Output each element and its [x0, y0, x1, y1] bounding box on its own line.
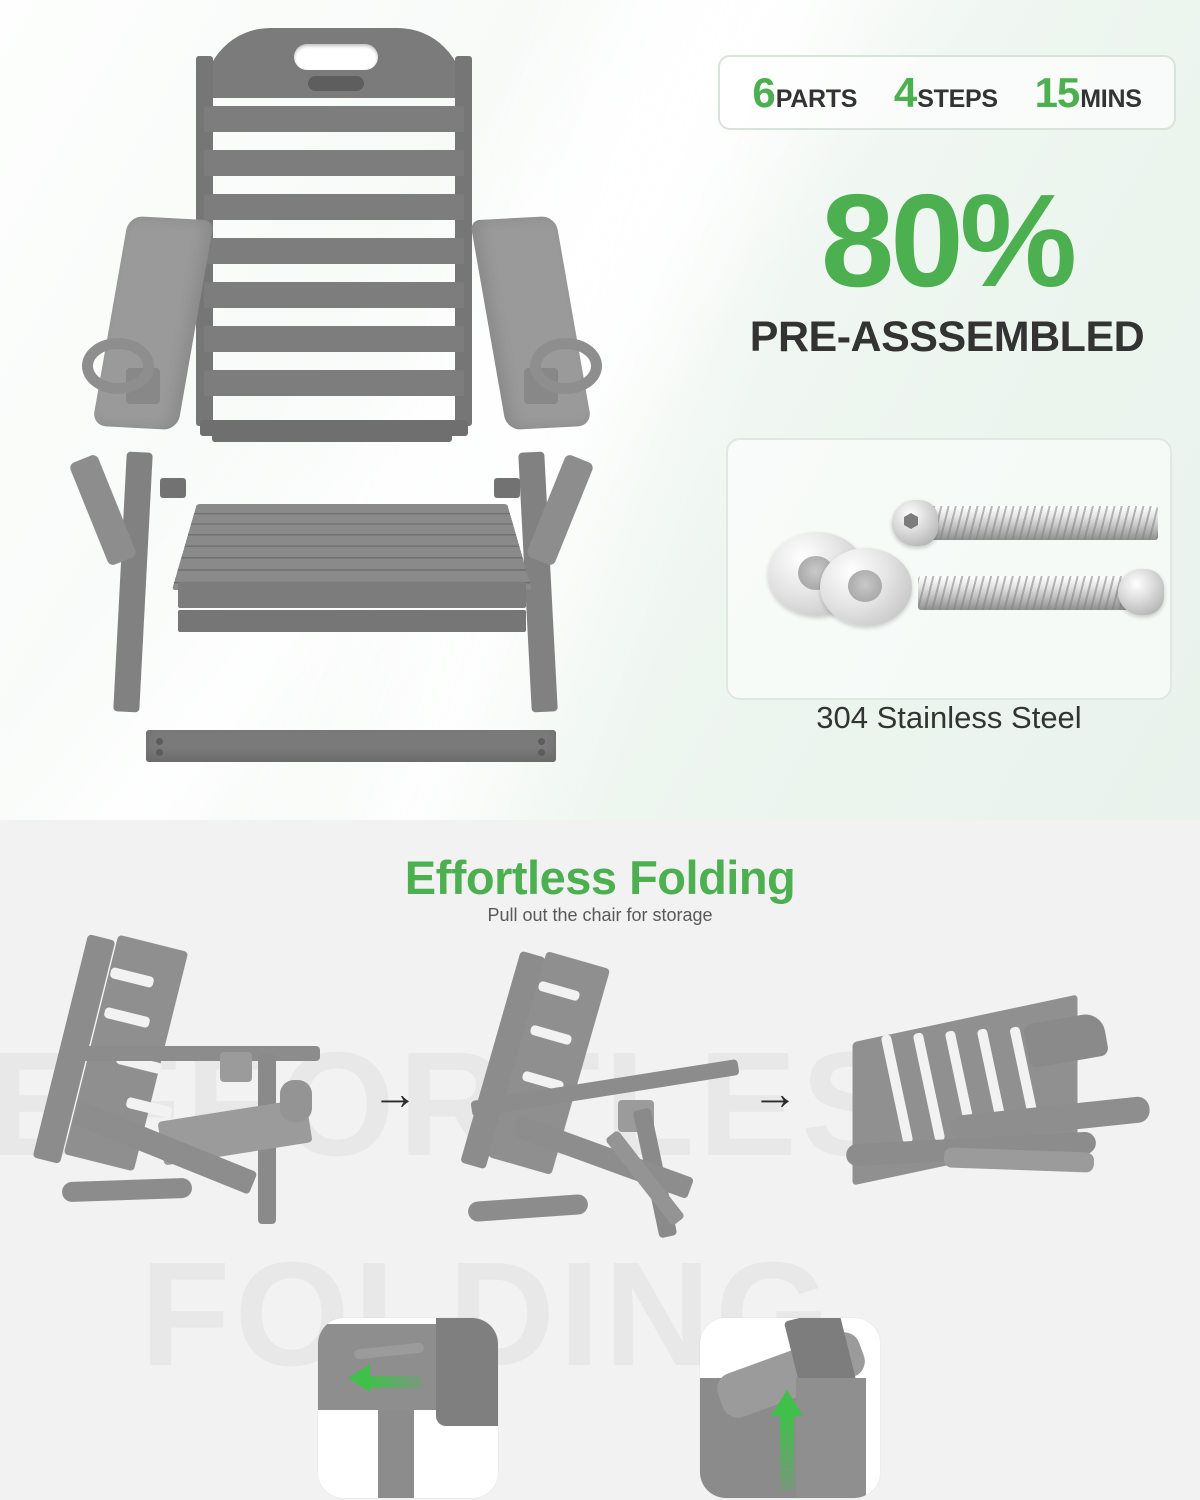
part-armrest-left	[82, 218, 212, 433]
product-infographic: 6 PARTS 4 STEPS 15 MINS 80% PRE-ASSSEMBL…	[0, 0, 1200, 1500]
folding-subtitle: Pull out the chair for storage	[0, 905, 1200, 926]
part-backrest	[196, 28, 472, 428]
backrest-slat	[204, 238, 464, 264]
stat-steps-number: 4	[894, 69, 916, 117]
fold-arrow-2: →	[752, 1070, 798, 1116]
stat-mins-number: 15	[1035, 69, 1080, 117]
green-arrow-stem	[780, 1414, 794, 1490]
pre-assembled-callout: 80% PRE-ASSSEMBLED	[718, 175, 1176, 362]
part-armrest-right	[472, 218, 602, 433]
folded-seat-edge	[944, 1147, 1095, 1172]
stat-mins-label: MINS	[1080, 85, 1141, 114]
stat-steps: 4 STEPS	[894, 69, 998, 117]
backrest-slat	[204, 150, 464, 176]
cupholder-bracket	[220, 1052, 252, 1082]
front-leg-left	[113, 451, 153, 712]
green-arrow-stem	[366, 1376, 422, 1388]
backrest-handle-cutout	[294, 44, 378, 70]
seat-front-board	[178, 582, 526, 608]
leg-closeup	[378, 1410, 414, 1498]
assembly-overview-section: 6 PARTS 4 STEPS 15 MINS 80% PRE-ASSSEMBL…	[0, 0, 1200, 820]
backrest-slat	[204, 194, 464, 220]
stat-parts: 6 PARTS	[752, 69, 857, 117]
hardware-showcase-box	[726, 438, 1172, 700]
fold-arrow-1: →	[372, 1070, 418, 1116]
cupholder-ring	[82, 338, 154, 394]
leg-closeup	[796, 1378, 866, 1498]
stat-parts-number: 6	[752, 69, 774, 117]
part-seat-assembly	[172, 470, 532, 640]
rear-foot	[467, 1194, 588, 1222]
backrest-slat	[204, 282, 464, 308]
back-post-closeup	[436, 1318, 498, 1426]
rear-foot	[62, 1178, 193, 1203]
folding-demo-section: EFFORTLESS FOLDING Effortless Folding Pu…	[0, 820, 1200, 1500]
seat-slat-surface	[172, 504, 532, 590]
part-support-rail	[212, 428, 452, 442]
fold-stage-flat	[840, 1010, 1170, 1230]
assembly-stats-bar: 6 PARTS 4 STEPS 15 MINS	[718, 55, 1176, 130]
fold-stage-upright	[30, 930, 350, 1260]
detail-callout-hinge	[318, 1318, 498, 1498]
seat-edge	[280, 1080, 312, 1122]
armrest	[82, 1046, 320, 1061]
pre-assembled-caption: PRE-ASSSEMBLED	[718, 313, 1176, 362]
hardware-material-caption: 304 Stainless Steel	[726, 700, 1172, 736]
stat-parts-label: PARTS	[776, 85, 857, 114]
washer-icon	[820, 548, 912, 626]
pre-assembled-percent: 80%	[718, 175, 1176, 307]
fold-stage-mid	[450, 950, 770, 1270]
backrest-slat	[204, 370, 464, 396]
seat-front-board-lower	[178, 610, 526, 632]
cupholder-ring	[530, 338, 602, 394]
folding-title: Effortless Folding	[0, 850, 1200, 905]
green-arrow-up-icon	[771, 1390, 803, 1416]
brand-logo-plate	[308, 76, 364, 91]
part-bottom-rail	[146, 730, 556, 762]
stat-steps-label: STEPS	[917, 85, 997, 114]
green-arrow-left-icon	[348, 1364, 370, 1392]
backrest-slat	[204, 326, 464, 352]
exploded-chair-diagram	[0, 0, 720, 820]
backrest-slat	[204, 106, 464, 132]
detail-callout-arm-lift	[700, 1318, 880, 1498]
stat-mins: 15 MINS	[1035, 69, 1142, 117]
